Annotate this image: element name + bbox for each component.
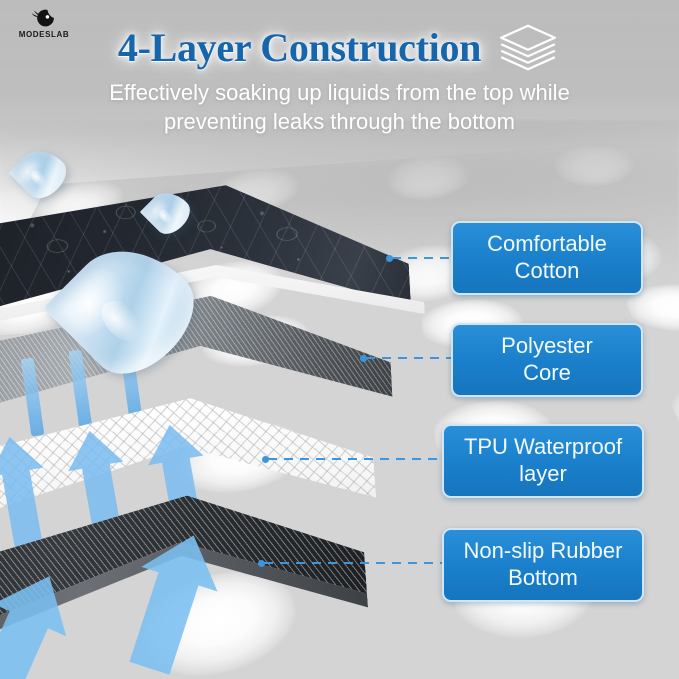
layer-stack-illustration — [0, 170, 500, 679]
leader-line-non-slip-rubber — [264, 562, 448, 564]
layered-sheets-icon — [495, 22, 561, 72]
callout-line2: layer — [464, 461, 622, 488]
droplet-highlight — [28, 167, 49, 188]
callout-line1: Polyester — [501, 333, 593, 360]
leader-line-polyester-core — [366, 357, 454, 359]
page-subtitle: Effectively soaking up liquids from the … — [42, 78, 637, 136]
callout-line1: TPU Waterproof — [464, 434, 622, 461]
droplet-highlight — [157, 207, 176, 226]
callout-line2: Cotton — [487, 258, 607, 285]
leader-line-comfortable-cotton — [392, 257, 454, 259]
leader-line-tpu-waterproof — [268, 458, 448, 460]
header-title-row: 4-Layer Construction — [0, 22, 679, 72]
product-infographic: Comfortable Cotton Polyester Core TPU Wa… — [0, 0, 679, 679]
callout-line1: Non-slip Rubber — [464, 538, 623, 565]
callout-line2: Core — [501, 360, 593, 387]
page-title: 4-Layer Construction — [118, 24, 481, 71]
subtitle-line-1: Effectively soaking up liquids from the … — [42, 78, 637, 107]
callout-tpu-waterproof[interactable]: TPU Waterproof layer — [442, 424, 644, 498]
callout-non-slip-rubber[interactable]: Non-slip Rubber Bottom — [442, 528, 644, 602]
callout-comfortable-cotton[interactable]: Comfortable Cotton — [451, 221, 643, 295]
subtitle-line-2: preventing leaks through the bottom — [42, 107, 637, 136]
callout-line1: Comfortable — [487, 231, 607, 258]
upward-airflow-arrow-icon-large — [0, 522, 340, 679]
callout-line2: Bottom — [464, 565, 623, 592]
callout-polyester-core[interactable]: Polyester Core — [451, 323, 643, 397]
droplet-highlight — [94, 293, 150, 349]
